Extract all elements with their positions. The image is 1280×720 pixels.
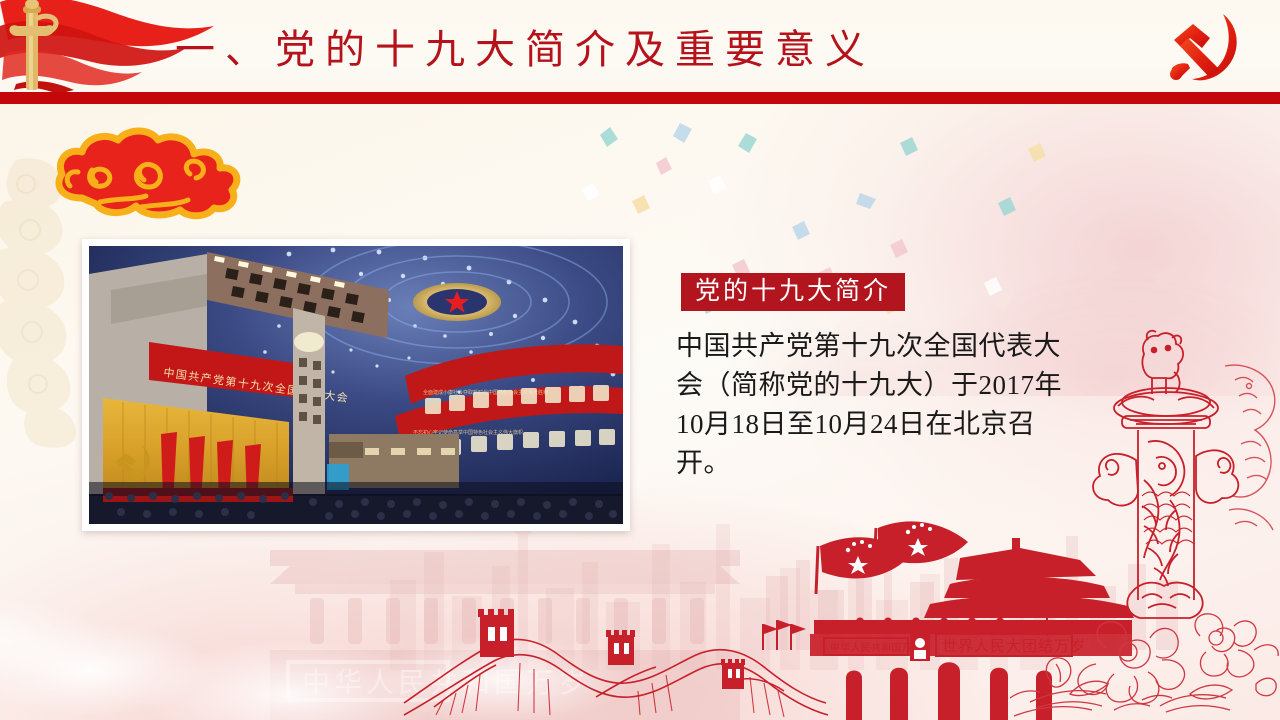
peony-flower-icon <box>1010 590 1280 720</box>
hammer-sickle-party-emblem-icon <box>1160 8 1250 86</box>
congress-photo: 中国共产党第十九次全国代表大会 <box>89 246 623 524</box>
slide-root: 中华人民共和国万岁 <box>0 0 1280 720</box>
header-red-divider-bar <box>0 92 1280 104</box>
tiananmen-left-slogan: 中华人民共和国万岁 <box>830 641 922 654</box>
congress-photo-frame[interactable]: 中国共产党第十九次全国代表大会 <box>82 239 630 531</box>
dragon-scroll-icon <box>1215 360 1280 550</box>
page-title: 一、党的十九大简介及重要意义 <box>175 20 935 80</box>
section-badge: 党的十九大简介 <box>681 273 905 311</box>
slide-header: 一、党的十九大简介及重要意义 <box>0 0 1280 104</box>
auspicious-cloud-icon <box>40 124 250 229</box>
portrait-placeholder <box>910 634 930 661</box>
body-paragraph: 中国共产党第十九次全国代表大会（简称党的十九大）于2017年10月18日至10月… <box>676 327 1076 483</box>
